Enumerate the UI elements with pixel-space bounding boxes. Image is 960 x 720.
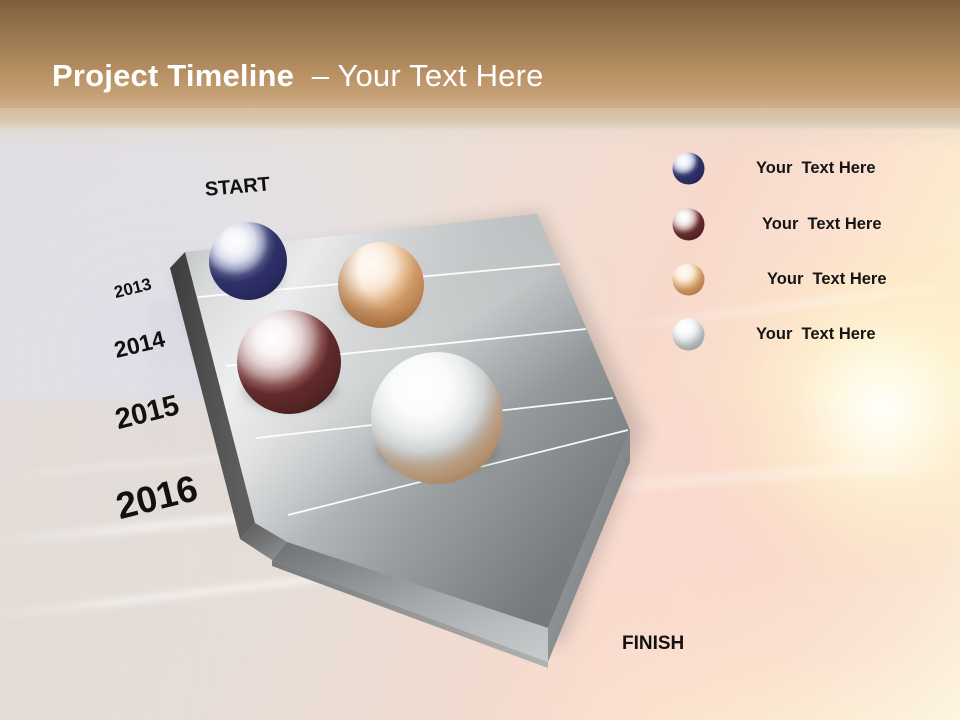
legend-item-2[interactable]: Your Text Here (672, 202, 882, 246)
legend-item-1-label: Your Text Here (756, 160, 876, 177)
slide-canvas: Project Timeline – Your Text Here (0, 0, 960, 720)
legend-item-1[interactable]: Your Text Here (672, 146, 876, 190)
milestone-2015[interactable] (338, 242, 424, 328)
legend-item-2-label: Your Text Here (762, 216, 882, 233)
legend-sphere-tan (672, 263, 705, 296)
legend-item-4-label: Your Text Here (756, 326, 876, 343)
milestone-2013[interactable] (209, 222, 287, 300)
milestone-2014[interactable] (237, 310, 341, 414)
legend-sphere-gray (672, 318, 705, 351)
milestone-2016[interactable] (371, 352, 503, 484)
legend-item-3-label: Your Text Here (767, 271, 887, 288)
timeline-platform (0, 0, 960, 720)
legend-item-3[interactable]: Your Text Here (672, 257, 887, 301)
legend-sphere-navy (672, 152, 705, 185)
finish-label: FINISH (622, 633, 684, 655)
legend-sphere-maroon (672, 208, 705, 241)
legend-item-4[interactable]: Your Text Here (672, 312, 876, 356)
